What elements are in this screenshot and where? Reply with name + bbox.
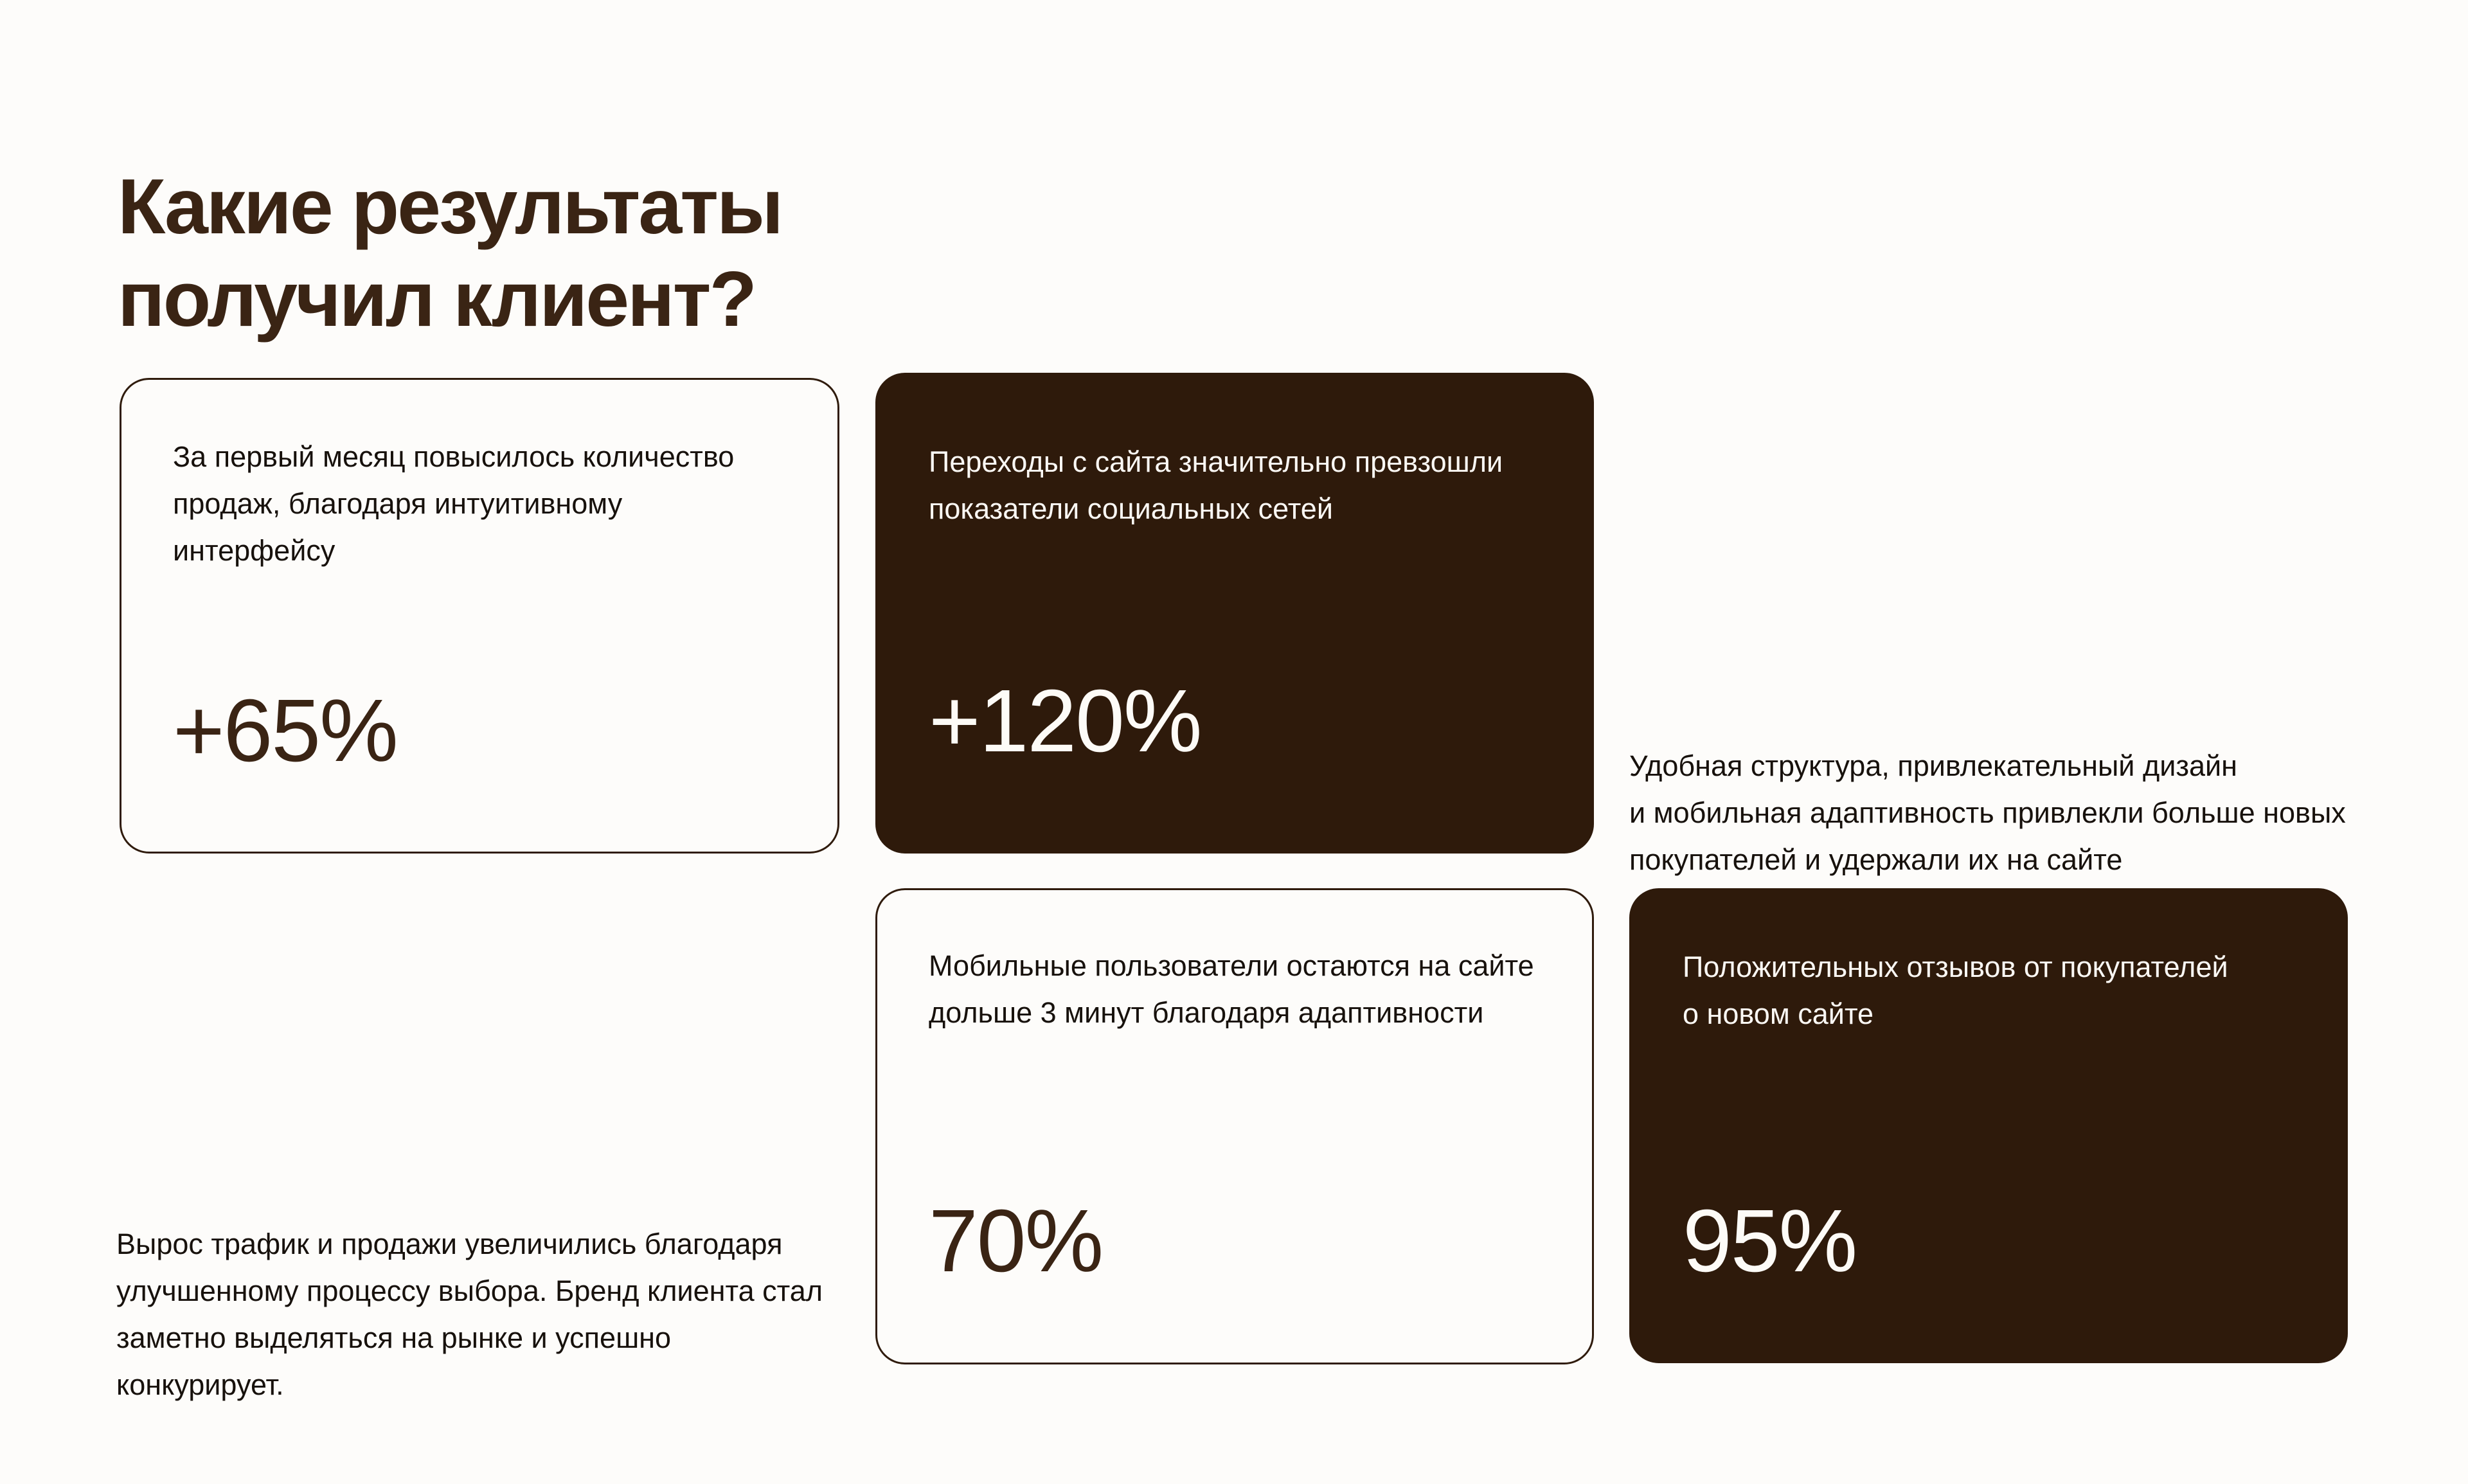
stat-card-reviews: Положительных отзывов от покупателей о н…: [1629, 888, 2348, 1363]
supporting-paragraph-bottom-left: Вырос трафик и продажи увеличились благо…: [116, 1221, 843, 1409]
results-slide: Какие результаты получил клиент? За перв…: [0, 0, 2468, 1484]
stat-card-mobile-time: Мобильные пользователи остаются на сайте…: [875, 888, 1594, 1364]
page-title: Какие результаты получил клиент?: [118, 161, 1210, 346]
stat-card-referrals: Переходы с сайта значительно превзошли п…: [875, 373, 1594, 854]
stat-card-value: +120%: [929, 677, 1201, 765]
stat-card-caption: Положительных отзывов от покупателей о н…: [1683, 944, 2325, 1038]
stat-card-value: +65%: [173, 686, 397, 775]
stat-card-caption: За первый месяц повысилось количество пр…: [173, 434, 790, 575]
stat-card-caption: Мобильные пользователи остаются на сайте…: [929, 943, 1571, 1037]
stat-card-value: 95%: [1683, 1197, 1856, 1285]
stat-card-value: 70%: [929, 1197, 1102, 1285]
stat-card-caption: Переходы с сайта значительно превзошли п…: [929, 439, 1565, 533]
stat-card-sales: За первый месяц повысилось количество пр…: [120, 378, 839, 854]
supporting-paragraph-right: Удобная структура, привлекательный дизай…: [1629, 743, 2388, 884]
